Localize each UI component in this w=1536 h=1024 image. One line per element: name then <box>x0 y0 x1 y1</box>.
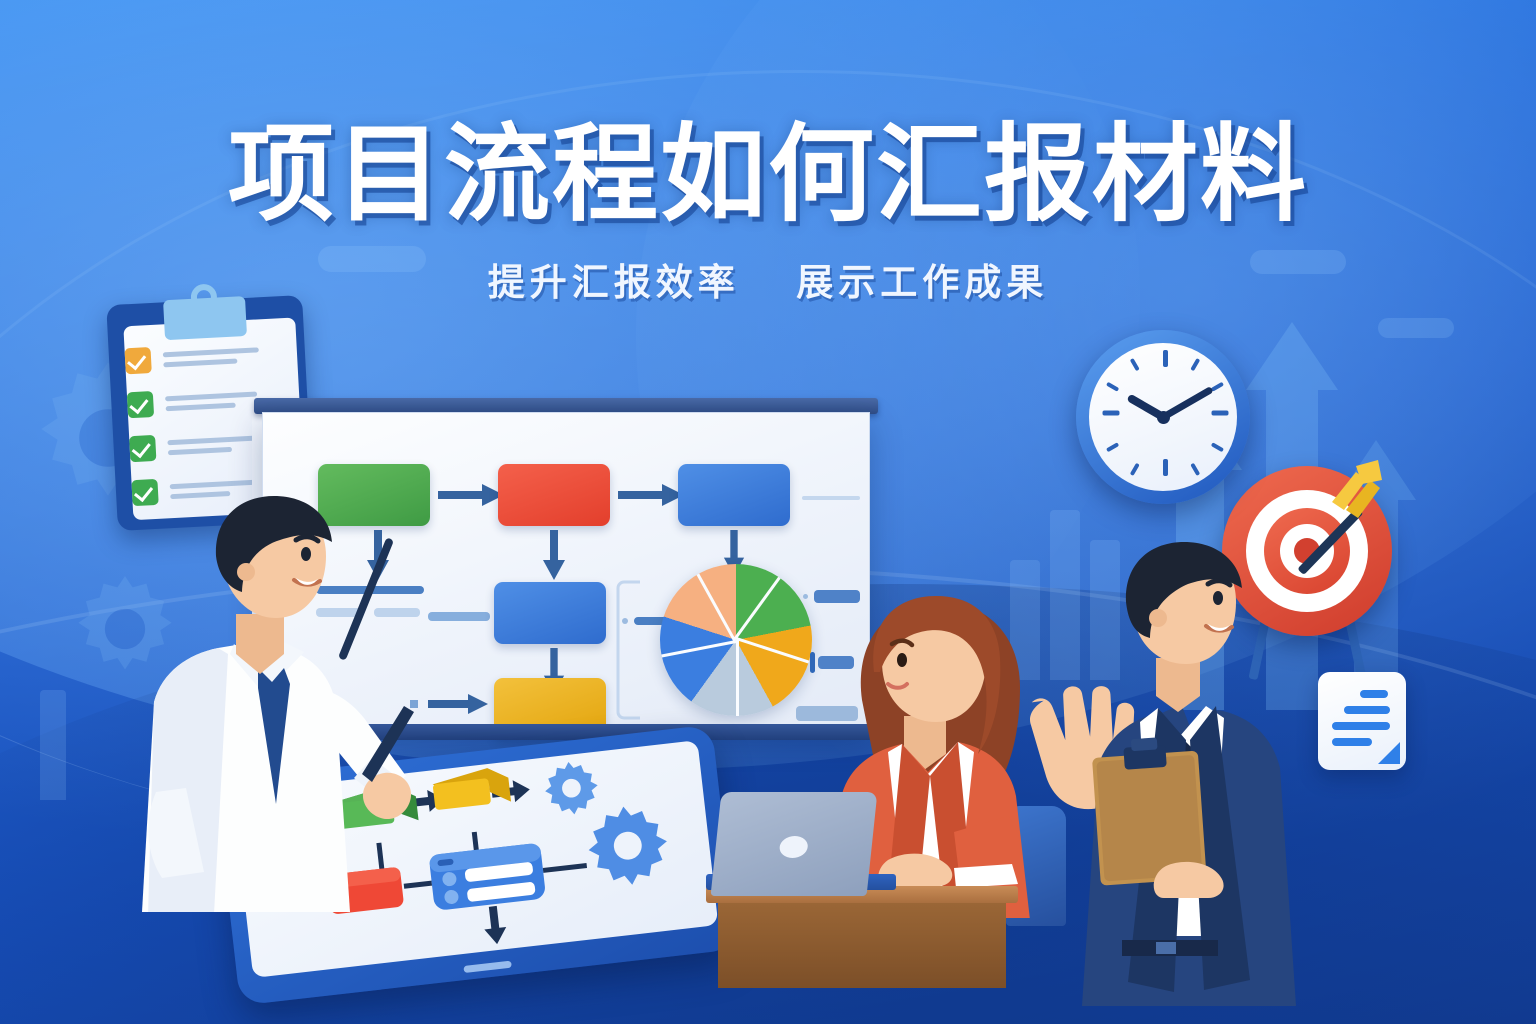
clock-tick <box>1163 350 1168 367</box>
clock-tick <box>1103 411 1120 416</box>
presenter-male <box>118 492 418 912</box>
checklist-text-lines <box>165 391 258 411</box>
checkbox-checked-icon <box>125 347 152 374</box>
title-block: 项目流程如何汇报材料 提升汇报效率 展示工作成果 <box>0 118 1536 306</box>
checkbox-checked-icon <box>127 391 154 418</box>
tablet-node-card <box>429 843 547 911</box>
whiteboard-dot <box>622 618 628 624</box>
clock-tick <box>1130 358 1140 371</box>
clock-tick <box>1211 442 1224 452</box>
flow-box-approve <box>678 464 790 526</box>
arrow-fletching-icon <box>1326 458 1390 518</box>
pie-slice-divider <box>661 640 736 657</box>
subtitle-right: 展示工作成果 <box>796 262 1048 303</box>
whiteboard-legend-dot <box>803 594 808 599</box>
clock-tick <box>1190 358 1200 371</box>
flow-arrow-right-icon <box>438 482 506 508</box>
clock-tick <box>1106 442 1119 452</box>
flow-box-review <box>498 464 610 526</box>
subtitle-left: 提升汇报效率 <box>488 262 740 303</box>
bg-bar-4 <box>40 690 66 800</box>
whiteboard-legend-line <box>802 496 860 500</box>
manager-male <box>1006 536 1306 1006</box>
pie-slice-divider <box>736 640 739 716</box>
clock-tick <box>1190 463 1200 476</box>
desk-front-panel <box>718 903 1006 988</box>
tablet-node-yellow <box>431 766 511 810</box>
clock-tick <box>1130 463 1140 476</box>
checkbox-checked-icon <box>129 435 156 462</box>
flow-box-process <box>494 582 606 644</box>
clock-tick <box>1163 459 1168 476</box>
document-icon <box>1318 672 1406 770</box>
flow-arrow-right-icon <box>410 692 488 716</box>
pie-slice-divider <box>697 574 736 642</box>
clock-center-pin <box>1157 411 1170 424</box>
whiteboard-bracket-icon <box>616 580 642 720</box>
document-line <box>1360 690 1388 698</box>
pie-slice-divider <box>734 577 781 640</box>
tablet-gear-icon-small <box>542 759 600 817</box>
whiteboard-legend-bar <box>810 652 815 673</box>
laptop-screen <box>711 792 878 896</box>
checklist-text-lines <box>167 435 264 455</box>
page-title: 项目流程如何汇报材料 <box>0 118 1536 232</box>
clock-tick <box>1212 411 1229 416</box>
pie-chart <box>660 564 812 716</box>
checklist-text-lines <box>163 347 260 367</box>
flow-arrow-right-icon <box>618 482 686 508</box>
pie-slice-divider <box>736 637 809 663</box>
wall-clock <box>1076 330 1250 504</box>
flow-arrow-down-icon <box>542 530 566 580</box>
clock-tick <box>1106 382 1119 392</box>
page-subtitle: 提升汇报效率 展示工作成果 <box>0 252 1536 306</box>
document-line <box>1344 706 1390 714</box>
document-line <box>1332 722 1390 730</box>
tablet-gear-icon-large <box>584 802 671 889</box>
document-line <box>1332 738 1372 746</box>
laptop-logo-icon <box>779 836 809 858</box>
whiteboard-text-line <box>428 612 490 621</box>
clock-face <box>1089 343 1237 491</box>
office-desk <box>706 886 1018 988</box>
poster-canvas: 项目流程如何汇报材料 提升汇报效率 展示工作成果 <box>0 0 1536 1024</box>
document-fold-icon <box>1378 742 1400 764</box>
